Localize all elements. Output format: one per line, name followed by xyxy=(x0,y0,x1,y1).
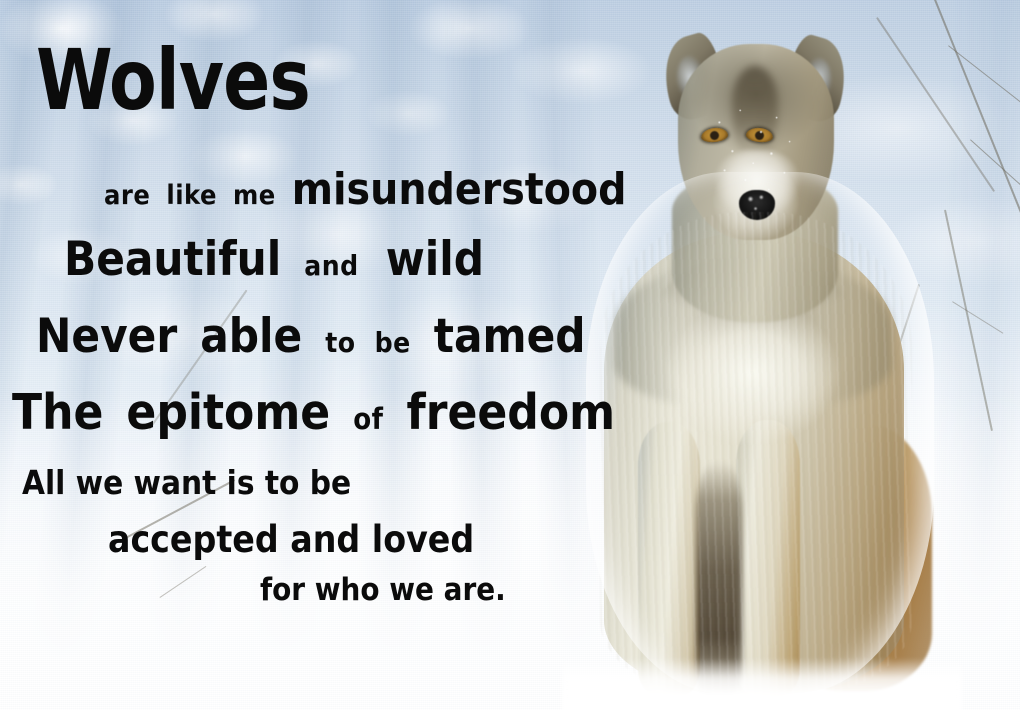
quote-word: are xyxy=(104,182,150,209)
quote-word: wild xyxy=(386,236,484,283)
quote-overlay: Wolves are like me misunderstood Beautif… xyxy=(0,0,620,710)
quote-word: be xyxy=(375,329,411,357)
quote-line-5: The epitome of freedom xyxy=(12,388,615,437)
quote-word: able xyxy=(200,313,302,360)
quote-line-8: for who we are. xyxy=(260,575,506,606)
quote-word: like xyxy=(166,182,217,209)
quote-word: misunderstood xyxy=(292,168,627,212)
quote-line-6: All we want is to be xyxy=(22,466,351,499)
quote-word: freedom xyxy=(407,388,616,437)
quote-line-7: accepted and loved xyxy=(108,521,474,558)
quote-word: epitome xyxy=(126,388,330,437)
quote-word: to xyxy=(325,329,355,357)
quote-line-4: Never able to be tamed xyxy=(36,313,586,360)
poster-title: Wolves xyxy=(36,38,310,122)
quote-word: of xyxy=(353,405,383,434)
snow-flecks xyxy=(696,96,826,216)
quote-word: Never xyxy=(36,313,177,360)
quote-line-3: Beautiful and wild xyxy=(64,236,484,283)
quote-word: tamed xyxy=(434,313,586,360)
wolf-photo xyxy=(586,22,934,694)
quote-word: Beautiful xyxy=(64,236,281,283)
quote-word: me xyxy=(233,182,276,209)
quote-word: and xyxy=(304,252,358,280)
quote-line-2: are like me misunderstood xyxy=(104,168,626,212)
quote-word: The xyxy=(12,388,103,437)
wolf-quote-poster: Wolves are like me misunderstood Beautif… xyxy=(0,0,1020,710)
snow-ground-line xyxy=(562,658,962,710)
wolf-fur-texture xyxy=(600,212,912,698)
